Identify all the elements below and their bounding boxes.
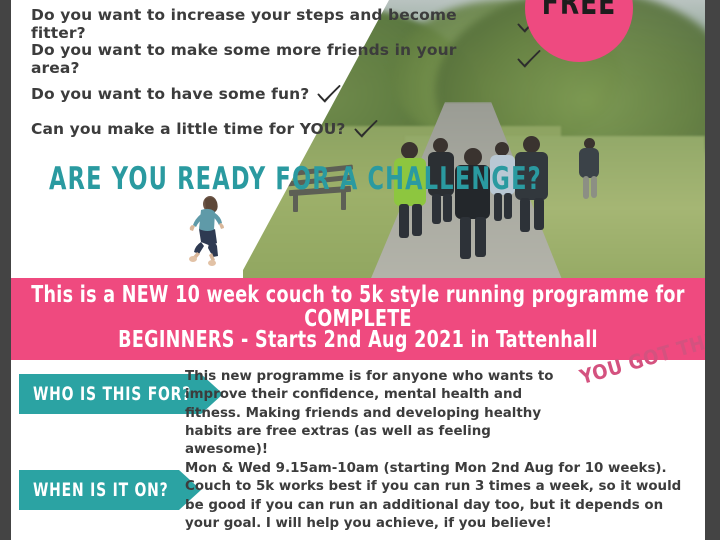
section-body-when: Mon & Wed 9.15am-10am (starting Mon 2nd … [185,460,695,533]
question-item: Do you want to make some more friends in… [31,41,541,76]
banner-line-2: BEGINNERS - Starts 2nd Aug 2021 in Tatte… [118,328,598,352]
question-text: Can you make a little time for YOU? [31,120,346,138]
question-item: Do you want to have some fun? [31,76,541,111]
check-tick-icon [517,50,541,68]
badge-label: WHO IS THIS FOR? [33,383,191,405]
banner-line-1: This is a NEW 10 week couch to 5k style … [11,284,705,332]
runner-illustration-icon [179,196,235,268]
photo-runner-6 [579,138,601,200]
question-list: Do you want to increase your steps and b… [21,0,541,146]
badge-when-is-it-on: WHEN IS IT ON? [19,470,201,510]
check-tick-icon [317,85,341,103]
check-tick-icon [354,120,378,138]
page-edge-left [0,0,11,540]
free-badge-label: FREE [542,0,616,73]
programme-banner: This is a NEW 10 week couch to 5k style … [11,278,705,360]
poster-flyer: FREE Do you want to increase your steps … [0,0,720,540]
info-sections: WHO IS THIS FOR? This new programme is f… [11,360,705,540]
challenge-headline: ARE YOU READY FOR A CHALLENGE? [49,160,542,196]
question-text: Do you want to increase your steps and b… [31,6,509,42]
poster-sheet: FREE Do you want to increase your steps … [11,0,705,540]
question-item: Do you want to increase your steps and b… [31,6,541,41]
clipped-top-line [21,0,541,6]
badge-label: WHEN IS IT ON? [33,479,169,501]
question-text: Do you want to make some more friends in… [31,41,509,77]
question-text: Do you want to have some fun? [31,85,309,103]
page-edge-right [705,0,720,540]
question-item: Can you make a little time for YOU? [31,111,541,146]
section-body-who: This new programme is for anyone who wan… [185,368,565,459]
